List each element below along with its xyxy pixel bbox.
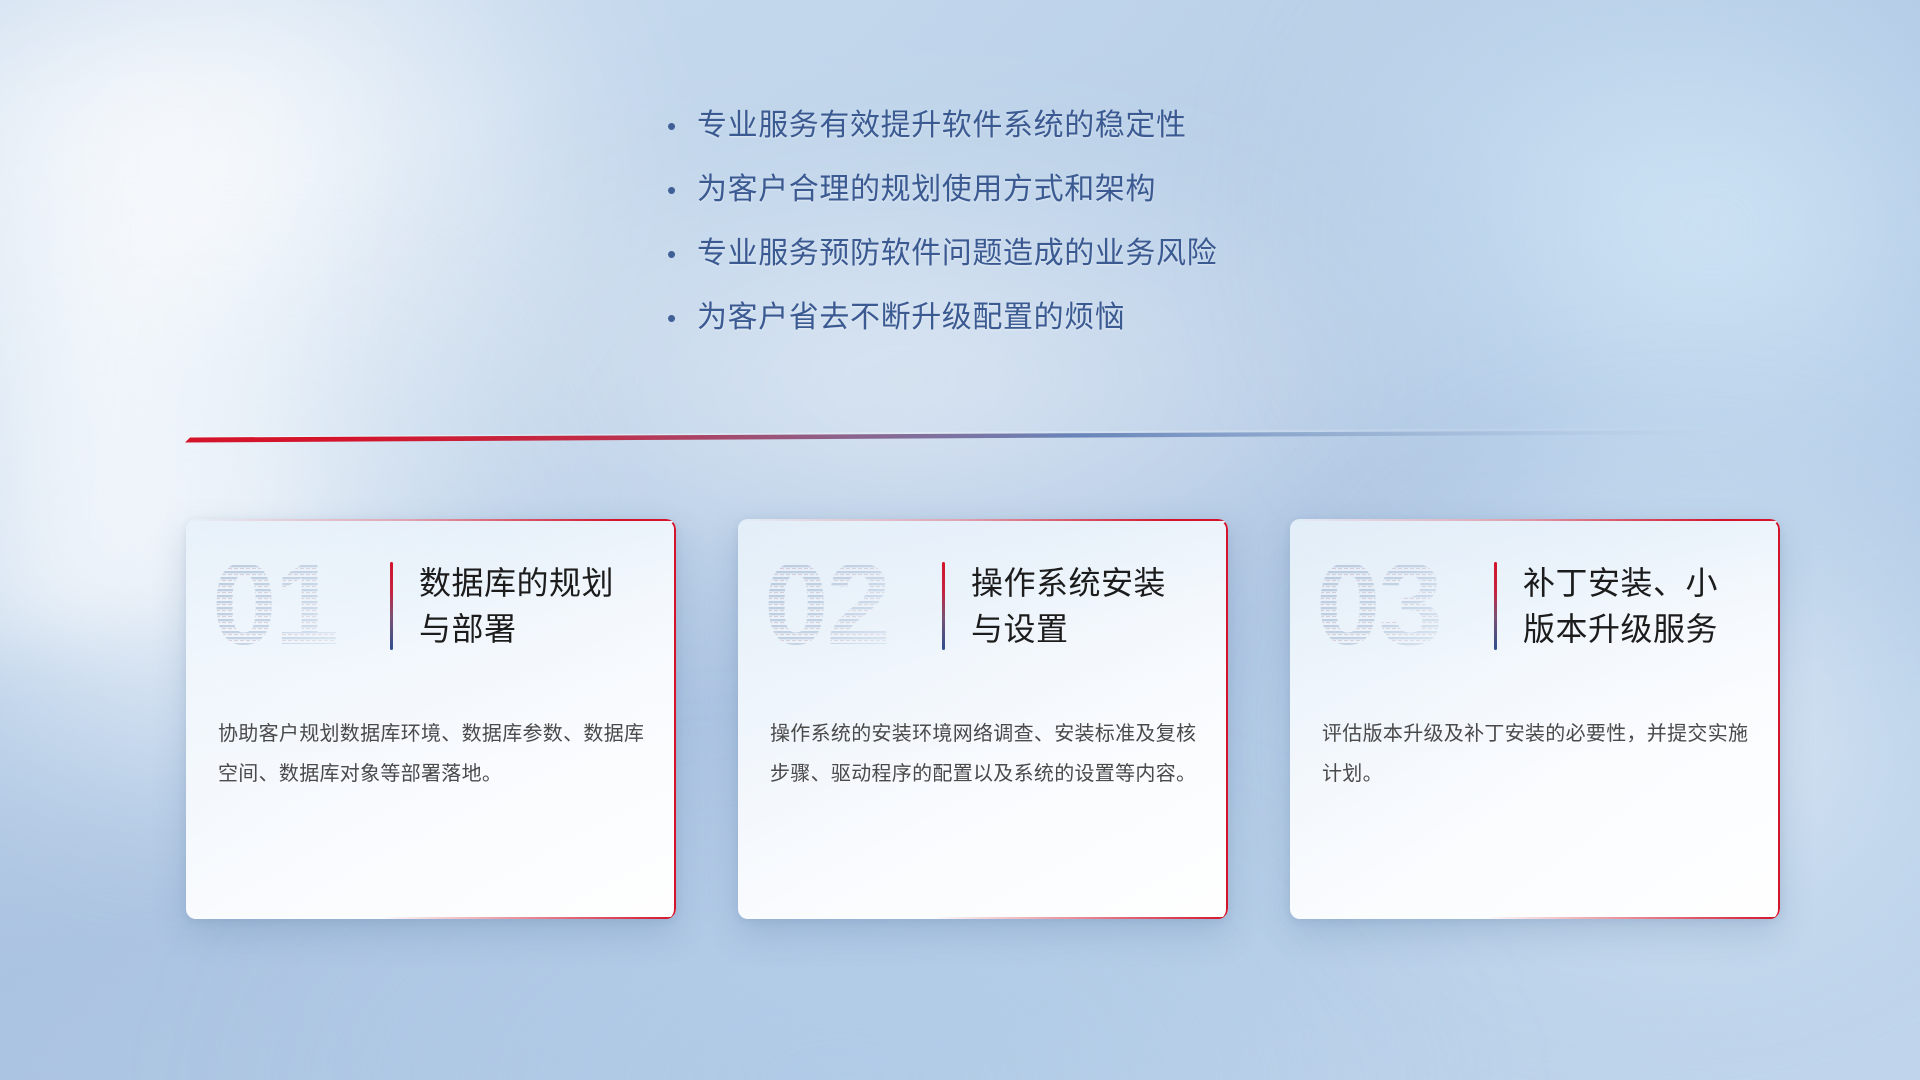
svg-text:03: 03	[1316, 547, 1441, 665]
card-title-rule	[390, 562, 393, 650]
card-title: 数据库的规划 与部署	[419, 560, 676, 652]
list-item: • 专业服务预防软件问题造成的业务风险	[663, 233, 1563, 297]
service-card[interactable]: 03 补丁安装、小 版本升级服务 评估版本升级及补丁安装的必要性，并提交实施计划…	[1290, 519, 1780, 919]
card-number-watermark: 03	[1314, 547, 1494, 665]
card-number-watermark: 02	[762, 547, 942, 665]
card-title: 补丁安装、小 版本升级服务	[1523, 560, 1780, 652]
section-divider	[185, 427, 1730, 445]
bullet-dot-icon: •	[663, 233, 697, 275]
card-title-rule	[1494, 562, 1497, 650]
card-description: 评估版本升级及补丁安装的必要性，并提交实施计划。	[1322, 714, 1750, 794]
bullet-label: 为客户合理的规划使用方式和架构	[697, 169, 1156, 211]
list-item: • 为客户省去不断升级配置的烦恼	[663, 297, 1563, 361]
list-item: • 专业服务有效提升软件系统的稳定性	[663, 105, 1563, 169]
svg-text:02: 02	[764, 547, 889, 665]
card-accent-bottom	[382, 917, 676, 919]
card-description: 协助客户规划数据库环境、数据库参数、数据库空间、数据库对象等部署落地。	[218, 714, 646, 794]
card-header: 03 补丁安装、小 版本升级服务	[1290, 541, 1780, 671]
svg-text:01: 01	[212, 547, 337, 665]
list-item: • 为客户合理的规划使用方式和架构	[663, 169, 1563, 233]
bullet-label: 专业服务有效提升软件系统的稳定性	[697, 105, 1187, 147]
card-number-watermark: 01	[210, 547, 390, 665]
benefits-bullet-list: • 专业服务有效提升软件系统的稳定性 • 为客户合理的规划使用方式和架构 • 专…	[663, 105, 1563, 361]
service-card[interactable]: 01 数据库的规划 与部署 协助客户规划数据库环境、数据库参数、数据库空间、数据…	[186, 519, 676, 919]
card-title: 操作系统安装 与设置	[971, 560, 1228, 652]
service-card-row: 01 数据库的规划 与部署 协助客户规划数据库环境、数据库参数、数据库空间、数据…	[186, 519, 1746, 929]
card-title-rule	[942, 562, 945, 650]
card-header: 01 数据库的规划 与部署	[186, 541, 676, 671]
card-accent-top	[1290, 519, 1780, 521]
card-accent-bottom	[1486, 917, 1780, 919]
service-card[interactable]: 02 操作系统安装 与设置 操作系统的安装环境网络调查、安装标准及复核步骤、驱动…	[738, 519, 1228, 919]
bullet-dot-icon: •	[663, 297, 697, 339]
bullet-label: 为客户省去不断升级配置的烦恼	[697, 297, 1125, 339]
bullet-dot-icon: •	[663, 169, 697, 211]
card-header: 02 操作系统安装 与设置	[738, 541, 1228, 671]
card-accent-top	[186, 519, 676, 521]
card-accent-bottom	[934, 917, 1228, 919]
bullet-dot-icon: •	[663, 105, 697, 147]
bullet-label: 专业服务预防软件问题造成的业务风险	[697, 233, 1217, 275]
card-description: 操作系统的安装环境网络调查、安装标准及复核步骤、驱动程序的配置以及系统的设置等内…	[770, 714, 1198, 794]
card-accent-top	[738, 519, 1228, 521]
